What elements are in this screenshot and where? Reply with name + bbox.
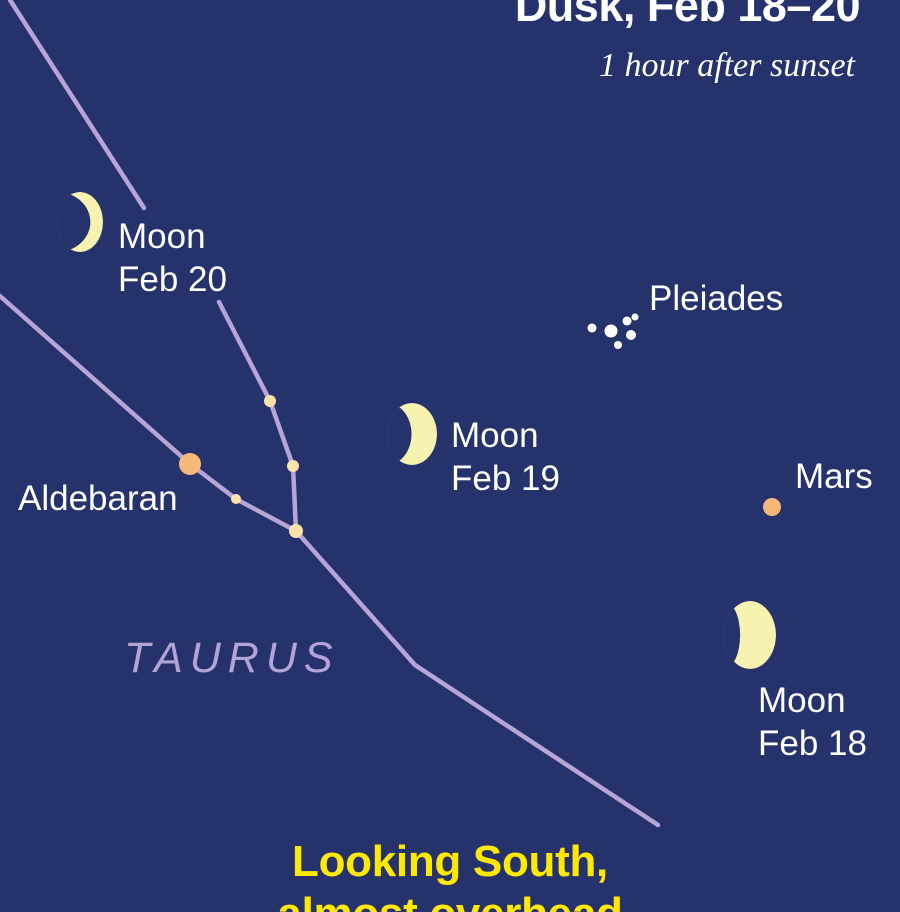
star-star-hyades-2	[289, 524, 303, 538]
label-mars: Mars	[795, 455, 873, 498]
label-moon-feb20-line1: Moon	[118, 215, 227, 258]
moon-feb-19	[363, 403, 438, 465]
pleiades-star-1	[588, 324, 597, 333]
star-star-hyades-4	[264, 395, 276, 407]
constellation-line-body-tail	[296, 531, 658, 825]
footer-caption-line2: almost overhead	[0, 888, 900, 912]
star-star-hyades-1	[231, 494, 241, 504]
pleiades-star-5	[632, 314, 639, 321]
constellation-lines	[0, 0, 658, 825]
pleiades-star-2	[605, 325, 618, 338]
star-star-hyades-3	[287, 460, 299, 472]
stars-group	[179, 395, 303, 538]
page-title: Dusk, Feb 18–20	[0, 0, 860, 32]
planets-group	[763, 498, 781, 516]
planet-mars	[763, 498, 781, 516]
page-subtitle: 1 hour after sunset	[0, 47, 855, 85]
sky-chart: Dusk, Feb 18–20 1 hour after sunset Moon…	[0, 0, 900, 912]
pleiades-star-4	[623, 317, 632, 326]
label-moon-feb19-line1: Moon	[451, 414, 560, 457]
label-moon-feb20: Moon Feb 20	[118, 215, 227, 301]
label-moon-feb20-line2: Feb 20	[118, 258, 227, 301]
pleiades-cluster	[588, 314, 639, 350]
moon-feb-20	[24, 192, 103, 252]
label-taurus: TAURUS	[124, 634, 340, 683]
label-moon-feb18-line2: Feb 18	[758, 722, 867, 765]
label-moon-feb18-line1: Moon	[758, 679, 867, 722]
star-aldebaran	[179, 453, 201, 475]
label-pleiades: Pleiades	[649, 277, 783, 320]
pleiades-star-6	[626, 330, 636, 340]
footer-caption: Looking South, almost overhead	[0, 836, 900, 912]
label-aldebaran: Aldebaran	[18, 477, 178, 520]
footer-caption-line1: Looking South,	[0, 836, 900, 888]
sky-canvas	[0, 0, 900, 912]
label-moon-feb19-line2: Feb 19	[451, 457, 560, 500]
moon-feb-18	[708, 601, 776, 669]
label-moon-feb19: Moon Feb 19	[451, 414, 560, 500]
pleiades-star-3	[614, 341, 622, 349]
label-moon-feb18: Moon Feb 18	[758, 679, 867, 765]
